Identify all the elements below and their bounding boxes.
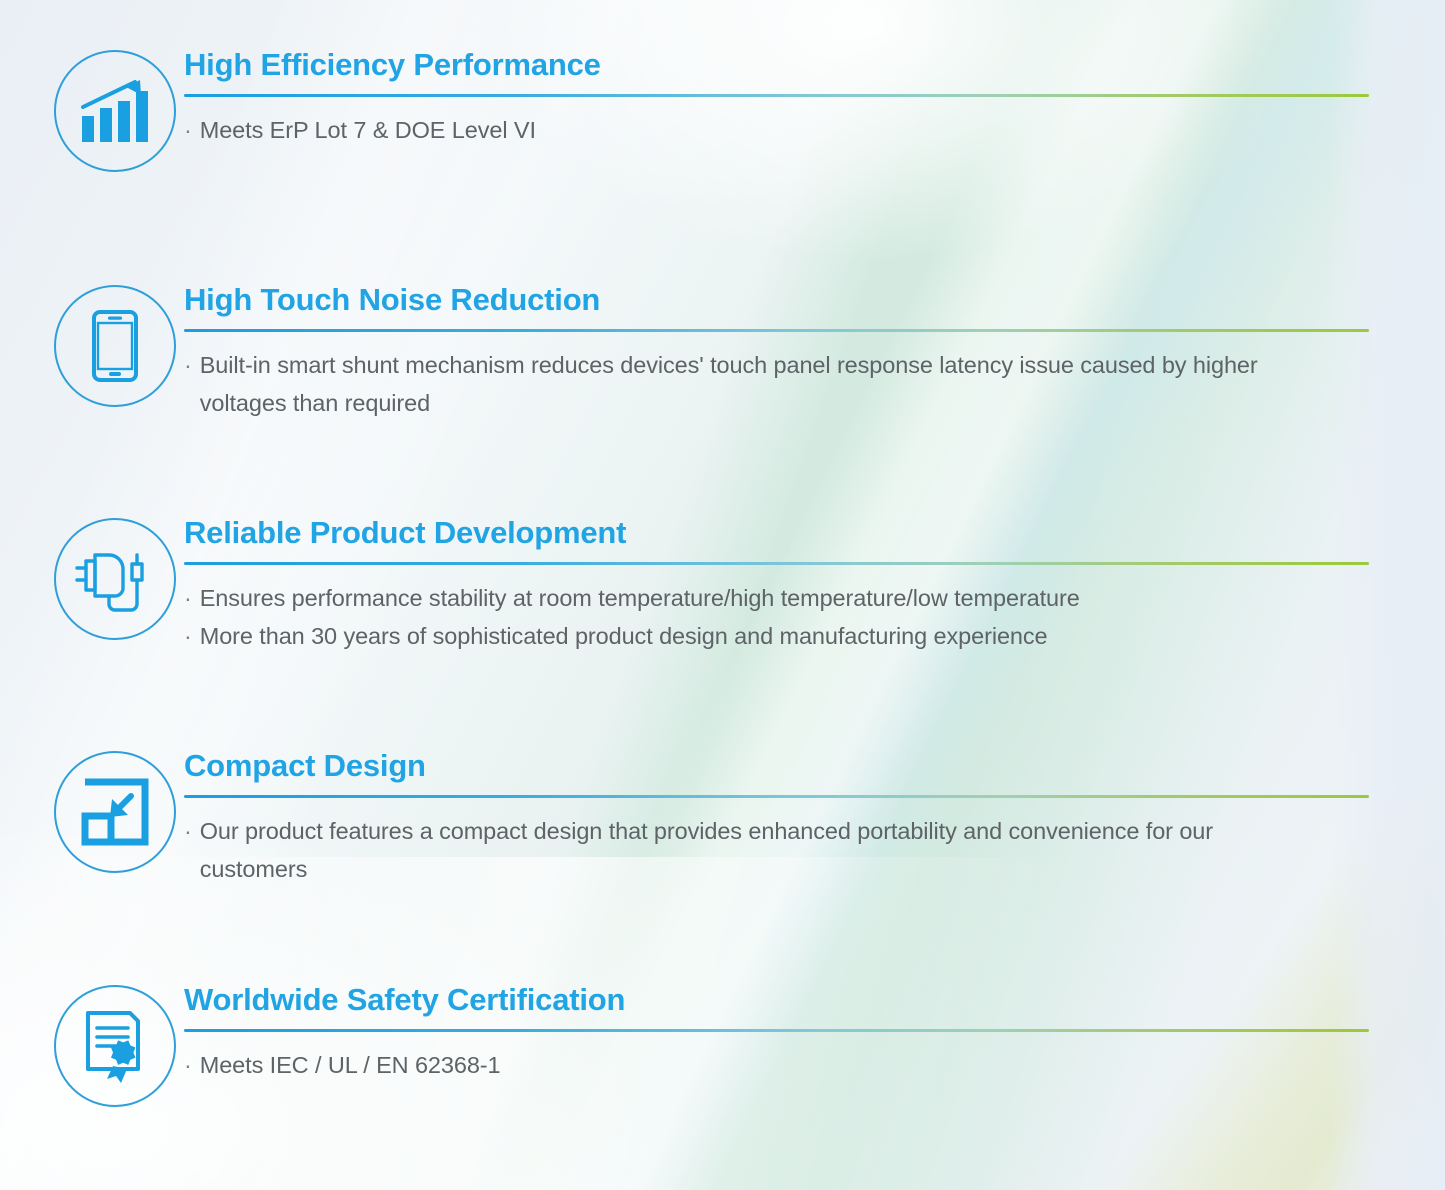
feature-icon-wrap (54, 48, 176, 172)
feature-bullet-list: · Built-in smart shunt mechanism reduces… (184, 346, 1369, 422)
feature-bullet-text: More than 30 years of sophisticated prod… (200, 617, 1369, 655)
bullet-dot-icon: · (184, 346, 192, 384)
feature-divider (184, 329, 1369, 332)
features-list: High Efficiency Performance · Meets ErP … (0, 0, 1445, 1190)
feature-icon-wrap (54, 749, 176, 873)
feature-title: Compact Design (184, 749, 1369, 784)
feature-bullet-list: · Our product features a compact design … (184, 812, 1369, 888)
feature-bullet-text: Ensures performance stability at room te… (200, 579, 1369, 617)
feature-bullet-list: · Meets IEC / UL / EN 62368-1 (184, 1046, 1369, 1084)
bullet-dot-icon: · (184, 111, 192, 149)
feature-bullet-line: · Built-in smart shunt mechanism reduces… (184, 346, 1369, 422)
feature-item-compact-design: Compact Design · Our product features a … (54, 749, 1369, 888)
feature-bullet-text: Our product features a compact design th… (200, 812, 1275, 888)
bullet-dot-icon: · (184, 812, 192, 850)
feature-icon-wrap (54, 983, 176, 1107)
feature-icon-wrap (54, 516, 176, 640)
feature-bullet-text: Meets ErP Lot 7 & DOE Level VI (200, 111, 1369, 149)
feature-bullet-line: · Meets ErP Lot 7 & DOE Level VI (184, 111, 1369, 149)
feature-body: Compact Design · Our product features a … (176, 749, 1369, 888)
feature-body: Reliable Product Development · Ensures p… (176, 516, 1369, 655)
feature-item-worldwide-safety-certification: Worldwide Safety Certification · Meets I… (54, 983, 1369, 1107)
compact-resize-icon (54, 751, 176, 873)
feature-bullet-list: · Meets ErP Lot 7 & DOE Level VI (184, 111, 1369, 149)
feature-divider (184, 94, 1369, 97)
bar-chart-growth-icon (54, 50, 176, 172)
feature-title: Worldwide Safety Certification (184, 983, 1369, 1018)
feature-title: High Efficiency Performance (184, 48, 1369, 83)
feature-bullet-line: · Our product features a compact design … (184, 812, 1369, 888)
feature-title: Reliable Product Development (184, 516, 1369, 551)
feature-divider (184, 795, 1369, 798)
feature-icon-wrap (54, 283, 176, 407)
feature-bullet-list: · Ensures performance stability at room … (184, 579, 1369, 655)
smartphone-icon (54, 285, 176, 407)
feature-highlight-page: { "theme": { "accent_blue": "#21a4e4", "… (0, 0, 1445, 1190)
feature-title: High Touch Noise Reduction (184, 283, 1369, 318)
feature-bullet-line: · Ensures performance stability at room … (184, 579, 1369, 617)
bullet-dot-icon: · (184, 617, 192, 655)
bullet-dot-icon: · (184, 579, 192, 617)
feature-body: High Efficiency Performance · Meets ErP … (176, 48, 1369, 149)
feature-body: Worldwide Safety Certification · Meets I… (176, 983, 1369, 1084)
power-adapter-icon (54, 518, 176, 640)
feature-body: High Touch Noise Reduction · Built-in sm… (176, 283, 1369, 422)
feature-bullet-text: Meets IEC / UL / EN 62368-1 (200, 1046, 1369, 1084)
certificate-seal-icon (54, 985, 176, 1107)
feature-bullet-line: · More than 30 years of sophisticated pr… (184, 617, 1369, 655)
feature-divider (184, 1029, 1369, 1032)
feature-bullet-line: · Meets IEC / UL / EN 62368-1 (184, 1046, 1369, 1084)
feature-divider (184, 562, 1369, 565)
feature-item-high-touch-noise-reduction: High Touch Noise Reduction · Built-in sm… (54, 283, 1369, 422)
feature-item-high-efficiency-performance: High Efficiency Performance · Meets ErP … (54, 48, 1369, 172)
feature-item-reliable-product-development: Reliable Product Development · Ensures p… (54, 516, 1369, 655)
bullet-dot-icon: · (184, 1046, 192, 1084)
feature-bullet-text: Built-in smart shunt mechanism reduces d… (200, 346, 1330, 422)
